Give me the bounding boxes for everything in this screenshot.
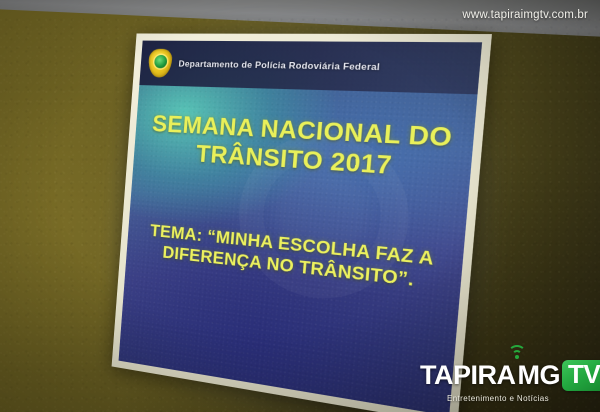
slide-header: Departamento de Polícia Rodoviária Feder… [139, 41, 482, 95]
tapira-mg-tv-logo: TAPIRA MG TV Entretenimento e Notícias [420, 342, 588, 404]
logo-text-tapira: TAPIRA [420, 360, 516, 391]
photograph: Departamento de Polícia Rodoviária Feder… [0, 0, 600, 412]
site-url-watermark: www.tapiraimgtv.com.br [462, 9, 588, 21]
organization-label: Departamento de Polícia Rodoviária Feder… [178, 58, 380, 72]
logo-wordmark: TAPIRA MG TV [420, 360, 588, 391]
logo-text-mg: MG [518, 360, 561, 391]
logo-tagline: Entretenimento e Notícias [434, 394, 562, 403]
antenna-tip [515, 355, 519, 359]
prf-badge-icon [148, 49, 173, 78]
logo-text-tv: TV [562, 360, 600, 390]
